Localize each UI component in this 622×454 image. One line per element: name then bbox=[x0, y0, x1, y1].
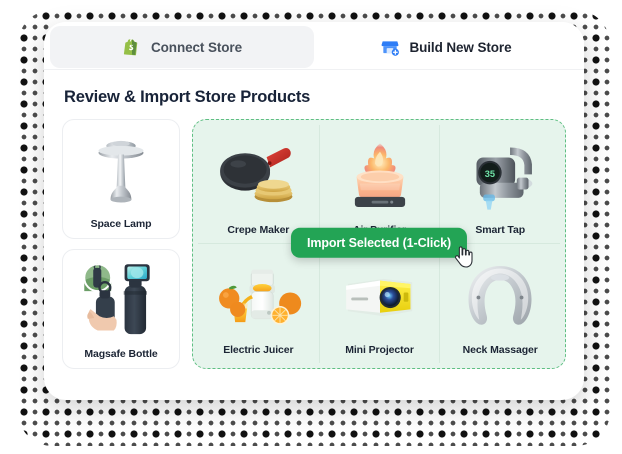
tab-build-new-store[interactable]: Build New Store bbox=[314, 26, 578, 68]
product-label: Neck Massager bbox=[463, 344, 538, 356]
product-label: Magsafe Bottle bbox=[84, 348, 157, 360]
mini-projector-thumb bbox=[322, 250, 438, 340]
product-card-magsafe-bottle[interactable]: Magsafe Bottle bbox=[62, 249, 180, 369]
page-title: Review & Import Store Products bbox=[64, 88, 566, 107]
product-card-space-lamp[interactable]: Space Lamp bbox=[62, 119, 180, 239]
window-body: Review & Import Store Products bbox=[44, 70, 584, 400]
tab-connect-store-label: Connect Store bbox=[151, 40, 242, 55]
products-area: Space Lamp bbox=[62, 119, 566, 369]
product-card-crepe-maker[interactable]: Crepe Maker bbox=[198, 125, 319, 243]
air-purifier-thumb bbox=[322, 131, 438, 220]
selected-products-panel: Crepe Maker bbox=[192, 119, 566, 369]
neck-massager-thumb bbox=[442, 250, 558, 340]
import-selected-button[interactable]: Import Selected (1-Click) bbox=[291, 228, 467, 258]
product-card-electric-juicer[interactable]: Electric Juicer bbox=[198, 244, 319, 363]
product-label: Space Lamp bbox=[91, 218, 152, 230]
screenshot-stage: Connect Store Build New Store Review & I… bbox=[0, 0, 622, 454]
product-card-smart-tap[interactable]: 35 Smart Tap bbox=[439, 125, 560, 243]
store-mode-tabbar: Connect Store Build New Store bbox=[44, 22, 584, 70]
electric-juicer-thumb bbox=[200, 250, 317, 340]
app-window-card: Connect Store Build New Store Review & I… bbox=[44, 22, 584, 400]
product-label: Electric Juicer bbox=[223, 344, 293, 356]
magsafe-bottle-thumb bbox=[67, 256, 175, 345]
storefront-plus-icon bbox=[380, 37, 400, 57]
space-lamp-thumb bbox=[67, 126, 175, 215]
tab-build-new-store-label: Build New Store bbox=[409, 40, 511, 55]
product-card-neck-massager[interactable]: Neck Massager bbox=[439, 244, 560, 363]
svg-text:35: 35 bbox=[485, 168, 495, 178]
crepe-maker-thumb bbox=[200, 131, 317, 220]
product-card-air-purifier[interactable]: Air Purifier bbox=[319, 125, 440, 243]
selected-products-row-2: Electric Juicer bbox=[198, 244, 560, 363]
tab-connect-store[interactable]: Connect Store bbox=[50, 26, 314, 68]
product-label: Crepe Maker bbox=[227, 224, 289, 236]
product-label: Mini Projector bbox=[345, 344, 414, 356]
unselected-products-column: Space Lamp bbox=[62, 119, 180, 369]
product-label: Smart Tap bbox=[475, 224, 525, 236]
product-card-mini-projector[interactable]: Mini Projector bbox=[319, 244, 440, 363]
shopify-bag-icon bbox=[122, 37, 142, 57]
selected-products-row-1: Crepe Maker bbox=[198, 125, 560, 244]
smart-tap-thumb: 35 bbox=[442, 131, 558, 220]
